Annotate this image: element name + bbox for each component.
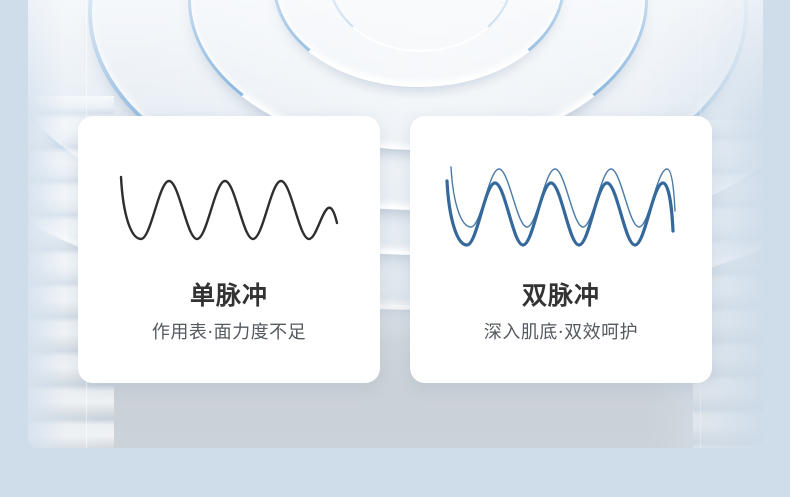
double-pulse-wave-graphic [410,152,712,262]
card-subtitle-single-pulse: 作用表·面力度不足 [78,318,380,344]
card-subtitle-double-pulse: 深入肌底·双效呵护 [410,318,712,344]
feature-card-double-pulse[interactable]: 双脉冲 深入肌底·双效呵护 [410,116,712,383]
feature-card-list: 单脉冲 作用表·面力度不足 双脉冲 深入肌底·双效呵护 [0,0,790,497]
single-pulse-wave-graphic [78,152,380,262]
card-title-single-pulse: 单脉冲 [78,276,380,312]
card-title-double-pulse: 双脉冲 [410,276,712,312]
page-root: 单脉冲 作用表·面力度不足 双脉冲 深入肌底·双效呵护 [0,0,790,497]
wave-path-single [121,177,337,239]
wave-path-double-thick [447,181,673,245]
feature-card-single-pulse[interactable]: 单脉冲 作用表·面力度不足 [78,116,380,383]
